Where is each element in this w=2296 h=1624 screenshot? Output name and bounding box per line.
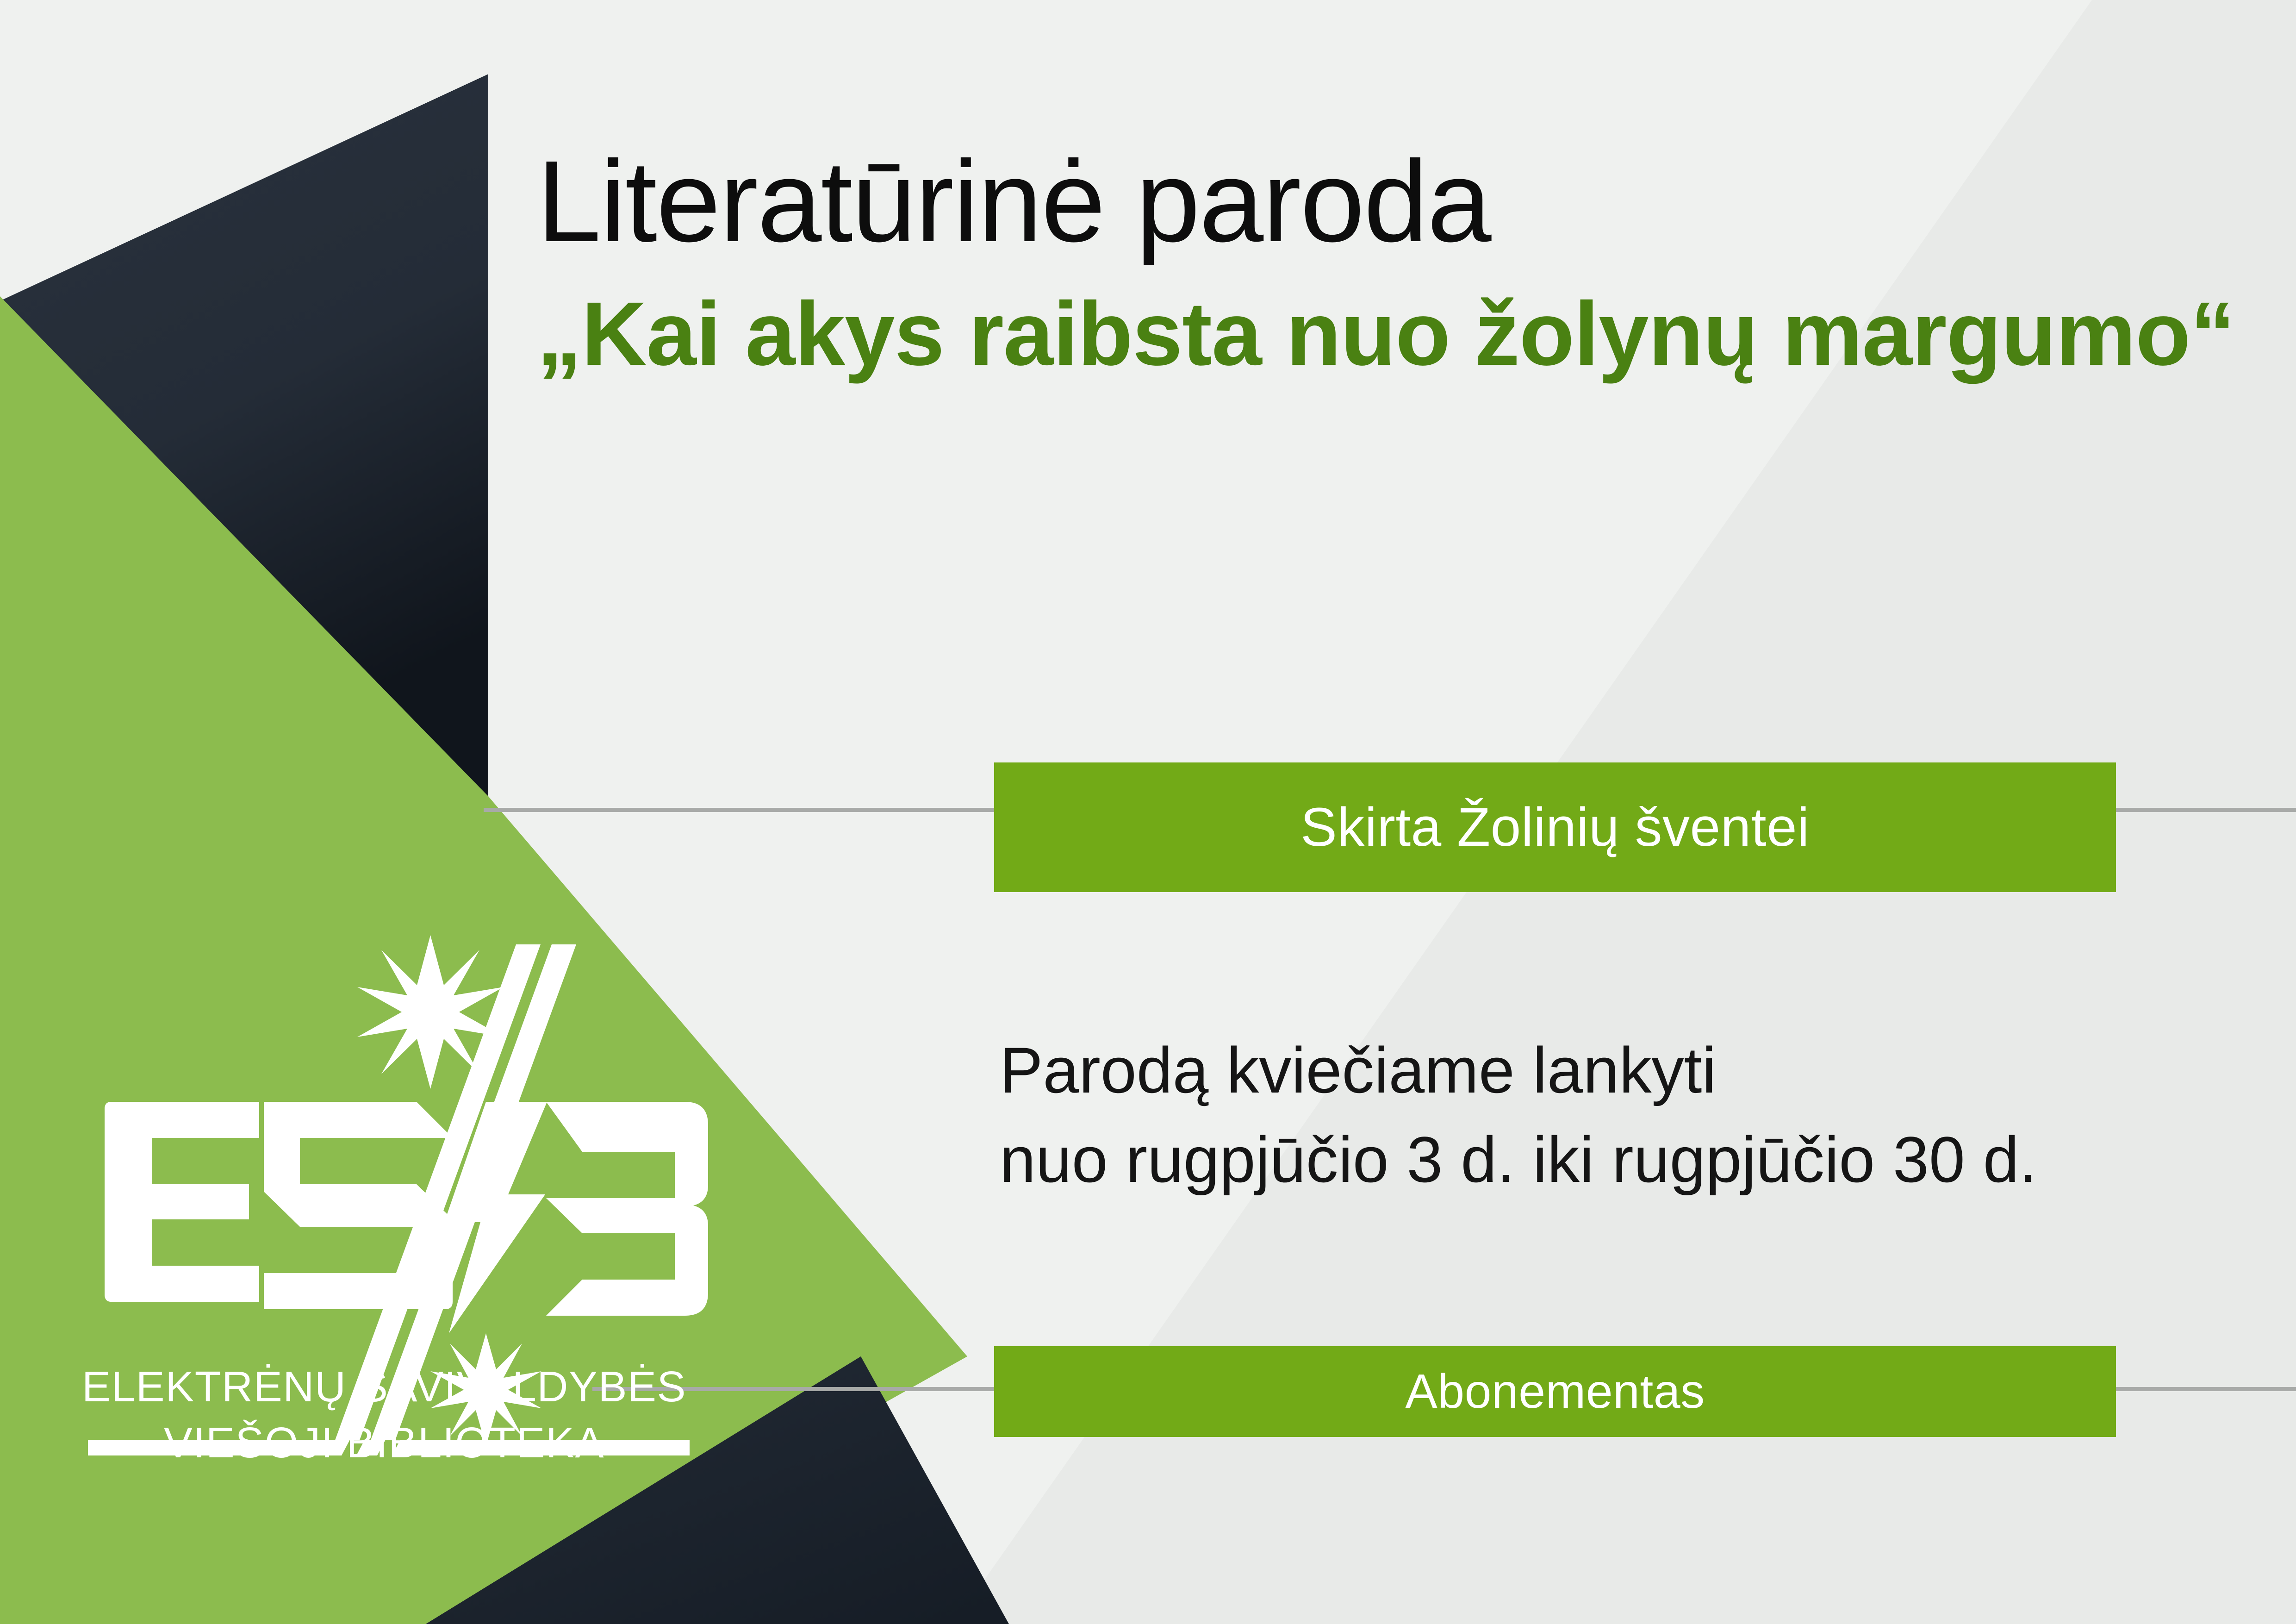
- headline-block: Literatūrinė paroda „Kai akys raibsta nu…: [537, 139, 2110, 384]
- dedication-banner[interactable]: Skirta Žolinių šventei: [994, 762, 2116, 892]
- location-banner[interactable]: Abonementas: [994, 1346, 2116, 1437]
- logo-letter-e: [105, 1102, 259, 1302]
- location-banner-label: Abonementas: [1405, 1368, 1705, 1416]
- logo-caption-line-2: VIEŠOJI BIBLIOTEKA: [79, 1415, 690, 1471]
- dedication-banner-label: Skirta Žolinių šventei: [1300, 800, 1810, 855]
- page-subtitle: „Kai akys raibsta nuo žolynų margumo“: [537, 283, 2110, 384]
- visit-info-line-2: nuo rugpjūčio 3 d. iki rugpjūčio 30 d.: [1000, 1115, 2203, 1204]
- logo-caption-line-1: ELEKTRĖNŲ SAVIVALDYBĖS: [79, 1359, 690, 1415]
- page-title: Literatūrinė paroda: [537, 139, 2110, 264]
- visit-info-text: Parodą kviečiame lankyti nuo rugpjūčio 3…: [1000, 1025, 2203, 1204]
- poster-canvas: Literatūrinė paroda „Kai akys raibsta nu…: [0, 0, 2296, 1624]
- logo-caption: ELEKTRĖNŲ SAVIVALDYBĖS VIEŠOJI BIBLIOTEK…: [79, 1359, 690, 1471]
- library-logo: ELEKTRĖNŲ SAVIVALDYBĖS VIEŠOJI BIBLIOTEK…: [79, 917, 722, 1472]
- visit-info-line-1: Parodą kviečiame lankyti: [1000, 1025, 2203, 1115]
- logo-letter-b: [546, 1102, 708, 1316]
